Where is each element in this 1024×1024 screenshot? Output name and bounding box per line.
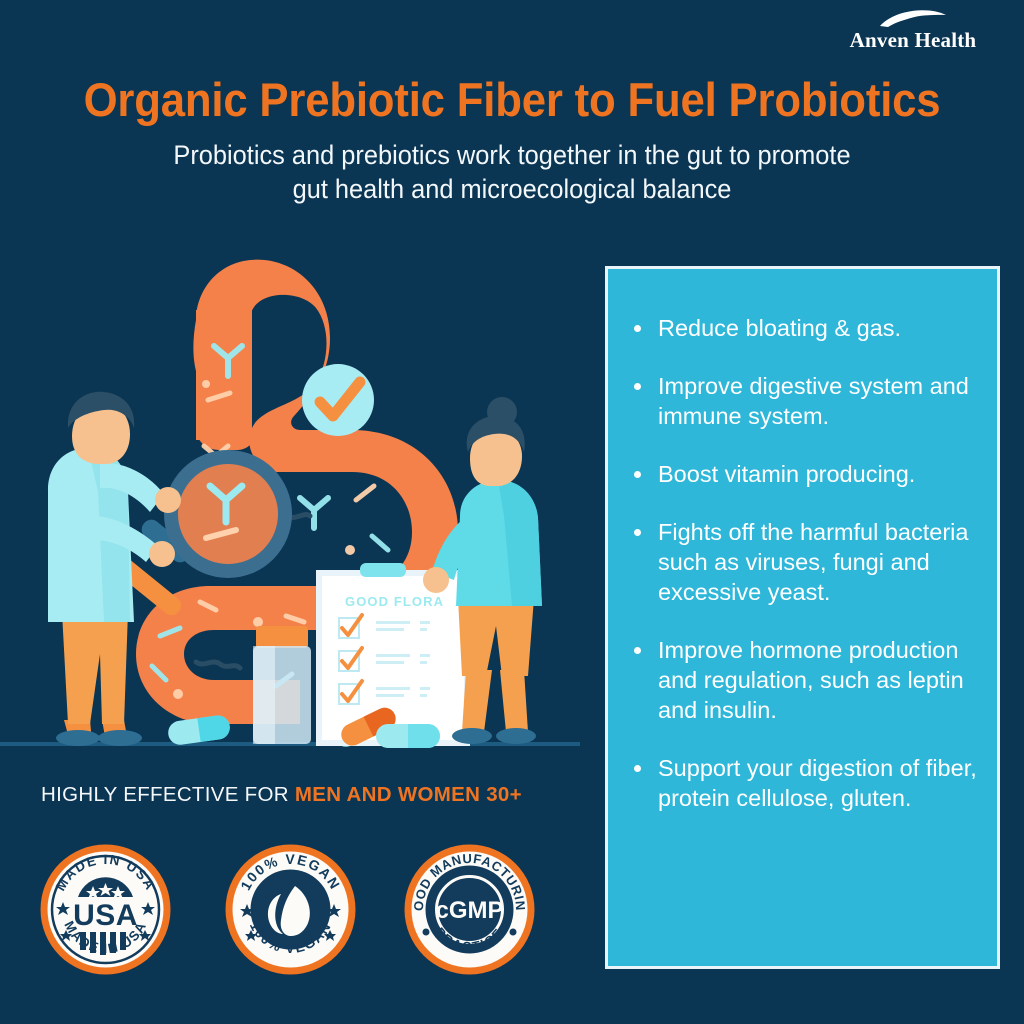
supplement-jar — [253, 626, 311, 744]
list-item: Support your digestion of fiber, protein… — [630, 753, 979, 813]
shoe — [452, 728, 492, 744]
brand-logo: Anven Health — [828, 8, 998, 53]
badge-cgmp: GOOD MANUFACTURING PRACTICE cGMP — [402, 842, 537, 977]
list-item: Boost vitamin producing. — [630, 459, 979, 489]
badge-vegan: 100% VEGAN 100% VEGAN — [223, 842, 358, 977]
badge-made-in-usa: MADE IN USA MADE IN USA USA — [38, 842, 173, 977]
benefits-list: Reduce bloating & gas. Improve digestive… — [608, 269, 997, 813]
page-title: Organic Prebiotic Fiber to Fuel Probioti… — [36, 72, 988, 127]
hair-bun — [487, 397, 517, 427]
list-item: Reduce bloating & gas. — [630, 313, 979, 343]
effective-accent: MEN AND WOMEN 30+ — [295, 783, 522, 806]
list-item: Fights off the harmful bacteria such as … — [630, 517, 979, 607]
shoe — [56, 730, 100, 746]
approval-check-badge — [302, 364, 374, 436]
leaf-swoosh-icon — [868, 8, 958, 30]
list-item: Improve hormone production and regulatio… — [630, 635, 979, 725]
badge-center-text: USA — [73, 899, 138, 932]
shoe — [496, 728, 536, 744]
subtitle-line-2: gut health and microecological balance — [31, 172, 994, 206]
brand-name: Anven Health — [828, 28, 998, 53]
hand — [149, 541, 175, 567]
list-item: Improve digestive system and immune syst… — [630, 371, 979, 431]
page-subtitle: Probiotics and prebiotics work together … — [31, 138, 994, 206]
hand — [423, 567, 449, 593]
subtitle-line-1: Probiotics and prebiotics work together … — [31, 138, 994, 172]
effective-prefix: HIGHLY EFFECTIVE FOR — [41, 783, 295, 806]
highly-effective-line: HIGHLY EFFECTIVE FOR MEN AND WOMEN 30+ — [41, 783, 522, 807]
badge-center-text: cGMP — [435, 897, 503, 924]
infographic-poster: Anven Health Organic Prebiotic Fiber to … — [0, 0, 1024, 1024]
good-flora-clipboard: GOOD FLORA — [316, 563, 470, 749]
hand — [155, 487, 181, 513]
clipboard-title: GOOD FLORA — [345, 594, 444, 609]
benefits-panel: Reduce bloating & gas. Improve digestive… — [605, 266, 1000, 969]
certification-badges: MADE IN USA MADE IN USA USA — [38, 842, 578, 982]
gut-health-illustration: GOOD FLORA — [0, 250, 600, 760]
shoe — [98, 730, 142, 746]
